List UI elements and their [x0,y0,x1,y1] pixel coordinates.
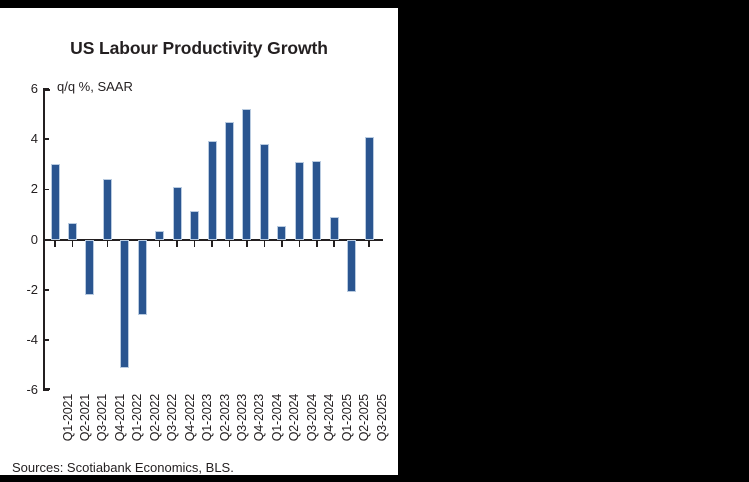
x-tick-Q4-2023 [246,241,248,247]
x-tick-label-Q2-2023: Q2-2023 [218,394,232,441]
y-tick--4 [43,339,49,341]
x-tick-label-Q1-2022: Q1-2022 [130,394,144,441]
bar-Q2-2021 [68,223,77,239]
x-tick-Q3-2023 [229,241,231,247]
x-tick-Q4-2024 [316,241,318,247]
bar-Q4-2022 [173,187,182,240]
chart-panel: US Labour Productivity Growth q/q %, SAA… [0,8,398,475]
x-tick-Q1-2023 [194,241,196,247]
bar-Q4-2021 [103,179,112,239]
x-tick-Q3-2024 [299,241,301,247]
y-tick-label-4: 4 [2,131,38,146]
x-tick-Q1-2024 [264,241,266,247]
x-tick-label-Q1-2021: Q1-2021 [61,394,75,441]
x-tick-label-Q2-2025: Q2-2025 [357,394,371,441]
x-tick-label-Q1-2024: Q1-2024 [270,394,284,441]
bar-Q1-2025 [330,217,339,240]
x-tick-label-Q3-2022: Q3-2022 [165,394,179,441]
bar-Q2-2022 [138,240,147,315]
bar-Q3-2023 [225,122,234,240]
x-tick-label-Q3-2025: Q3-2025 [375,394,389,441]
x-tick-label-Q3-2021: Q3-2021 [95,394,109,441]
x-tick-Q3-2022 [159,241,161,247]
sources-note: Sources: Scotiabank Economics, BLS. [12,460,234,475]
y-tick--6 [43,389,49,391]
y-tick-label-6: 6 [2,81,38,96]
x-tick-Q1-2025 [333,241,335,247]
bar-Q2-2025 [347,240,356,293]
x-tick-label-Q3-2024: Q3-2024 [305,394,319,441]
bar-Q4-2023 [242,109,251,239]
x-tick-Q1-2021 [54,241,56,247]
y-tick-2 [43,189,49,191]
y-tick-label--4: -4 [2,332,38,347]
x-tick-label-Q1-2023: Q1-2023 [200,394,214,441]
x-tick-Q2-2024 [281,241,283,247]
y-tick-label--6: -6 [2,382,38,397]
x-tick-label-Q2-2024: Q2-2024 [287,394,301,441]
bar-Q4-2024 [312,161,321,240]
x-tick-Q4-2022 [176,241,178,247]
x-tick-label-Q4-2023: Q4-2023 [252,394,266,441]
x-tick-label-Q4-2024: Q4-2024 [322,394,336,441]
bar-Q3-2024 [295,162,304,240]
y-tick--2 [43,289,49,291]
x-tick-Q2-2023 [211,241,213,247]
bar-Q1-2021 [51,164,60,239]
bar-Q1-2023 [190,211,199,240]
y-tick-label-2: 2 [2,181,38,196]
y-tick-4 [43,138,49,140]
x-tick-label-Q2-2022: Q2-2022 [148,394,162,441]
bar-Q3-2021 [85,240,94,295]
x-tick-Q4-2021 [107,241,109,247]
x-tick-label-Q3-2023: Q3-2023 [235,394,249,441]
bar-Q3-2025 [365,137,374,240]
bar-Q1-2024 [260,144,269,239]
x-tick-Q2-2021 [72,241,74,247]
bar-Q3-2022 [155,231,164,240]
y-tick-6 [43,88,49,90]
y-tick-label-0: 0 [2,232,38,247]
x-tick-label-Q1-2025: Q1-2025 [340,394,354,441]
plot-area: 6420-2-4-6 Q1-2021Q2-2021Q3-2021Q4-2021Q… [0,8,398,475]
screenshot-root: US Labour Productivity Growth q/q %, SAA… [0,0,749,482]
x-tick-label-Q4-2021: Q4-2021 [113,394,127,441]
bar-Q1-2022 [120,240,129,368]
y-tick-label--2: -2 [2,282,38,297]
x-tick-label-Q4-2022: Q4-2022 [183,394,197,441]
bar-Q2-2023 [208,141,217,240]
x-tick-Q3-2025 [368,241,370,247]
x-tick-label-Q2-2021: Q2-2021 [78,394,92,441]
bar-Q2-2024 [277,226,286,240]
